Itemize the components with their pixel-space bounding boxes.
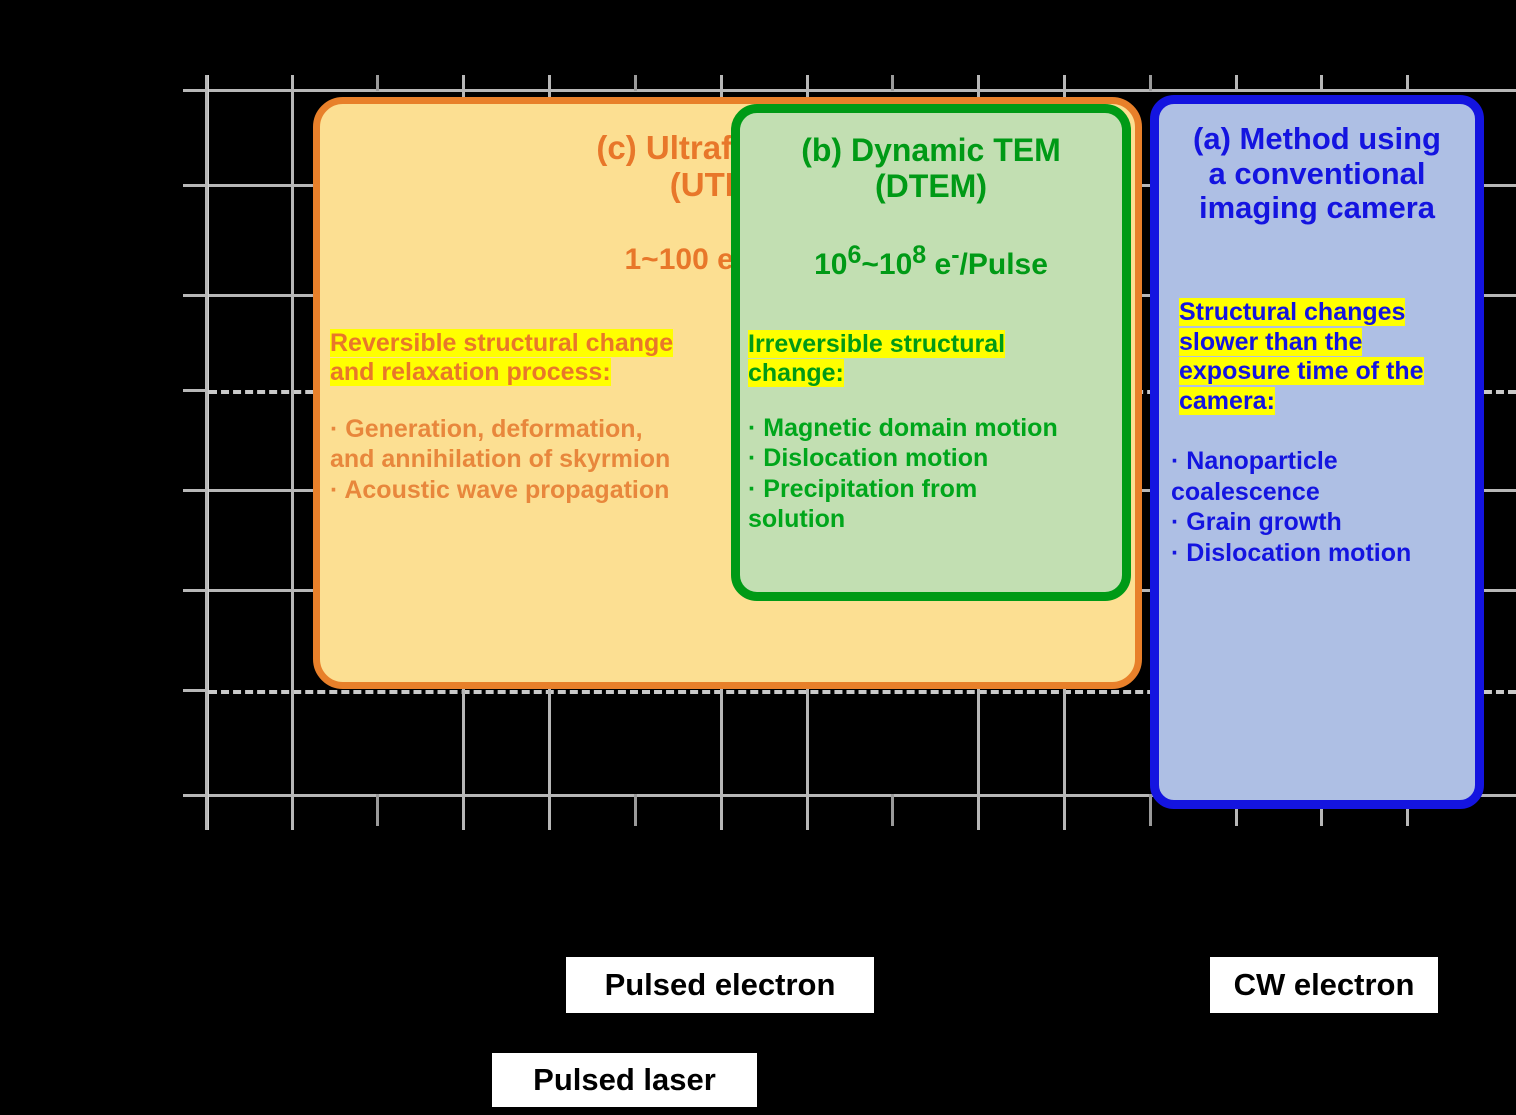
- tick-minor: [891, 794, 894, 826]
- dtem-bullet-list: · Magnetic domain motion · Dislocation m…: [748, 413, 1122, 535]
- method-box-conventional-camera[interactable]: (a) Method using a conventional imaging …: [1150, 95, 1484, 809]
- list-item: · Grain growth: [1171, 507, 1475, 538]
- dtem-heading: Irreversible structural change:: [748, 330, 1122, 389]
- figure-canvas: (c) Ultrafast TEM (UTEM) 1~100 e-/Pulse …: [0, 0, 1516, 1115]
- list-item: · Nanoparticle: [1171, 446, 1475, 477]
- tick-minor: [1149, 75, 1152, 91]
- label-cw-electron: CW electron: [1210, 957, 1438, 1013]
- gridline-vertical: [1320, 75, 1323, 91]
- label-pulsed-electron: Pulsed electron: [566, 957, 874, 1013]
- gridline-vertical: [205, 75, 208, 830]
- tick-minor: [891, 75, 894, 91]
- label-pulsed-laser: Pulsed laser: [492, 1053, 757, 1107]
- tick-minor: [376, 75, 379, 91]
- gridline-horizontal: [183, 89, 1516, 92]
- list-item: · Precipitation from: [748, 474, 1122, 505]
- list-item: · Dislocation motion: [1171, 538, 1475, 569]
- tick-minor: [376, 794, 379, 826]
- tick-minor: [1149, 794, 1152, 826]
- camera-heading: Structural changes slower than the expos…: [1179, 298, 1475, 416]
- list-item: coalescence: [1171, 477, 1475, 508]
- gridline-vertical: [291, 75, 294, 830]
- gridline-vertical: [1406, 75, 1409, 91]
- list-item: · Magnetic domain motion: [748, 413, 1122, 444]
- camera-title: (a) Method using a conventional imaging …: [1159, 122, 1475, 226]
- list-item: · Dislocation motion: [748, 443, 1122, 474]
- tick-minor: [634, 75, 637, 91]
- dtem-electron-rate: 106~108 e-/Pulse: [740, 241, 1122, 282]
- gridline-vertical: [1235, 75, 1238, 91]
- list-item: solution: [748, 504, 1122, 535]
- camera-bullet-list: · Nanoparticle coalescence · Grain growt…: [1171, 446, 1475, 568]
- dtem-title: (b) Dynamic TEM (DTEM): [740, 133, 1122, 205]
- method-box-dtem[interactable]: (b) Dynamic TEM (DTEM) 106~108 e-/Pulse …: [731, 104, 1131, 601]
- tick-minor: [634, 794, 637, 826]
